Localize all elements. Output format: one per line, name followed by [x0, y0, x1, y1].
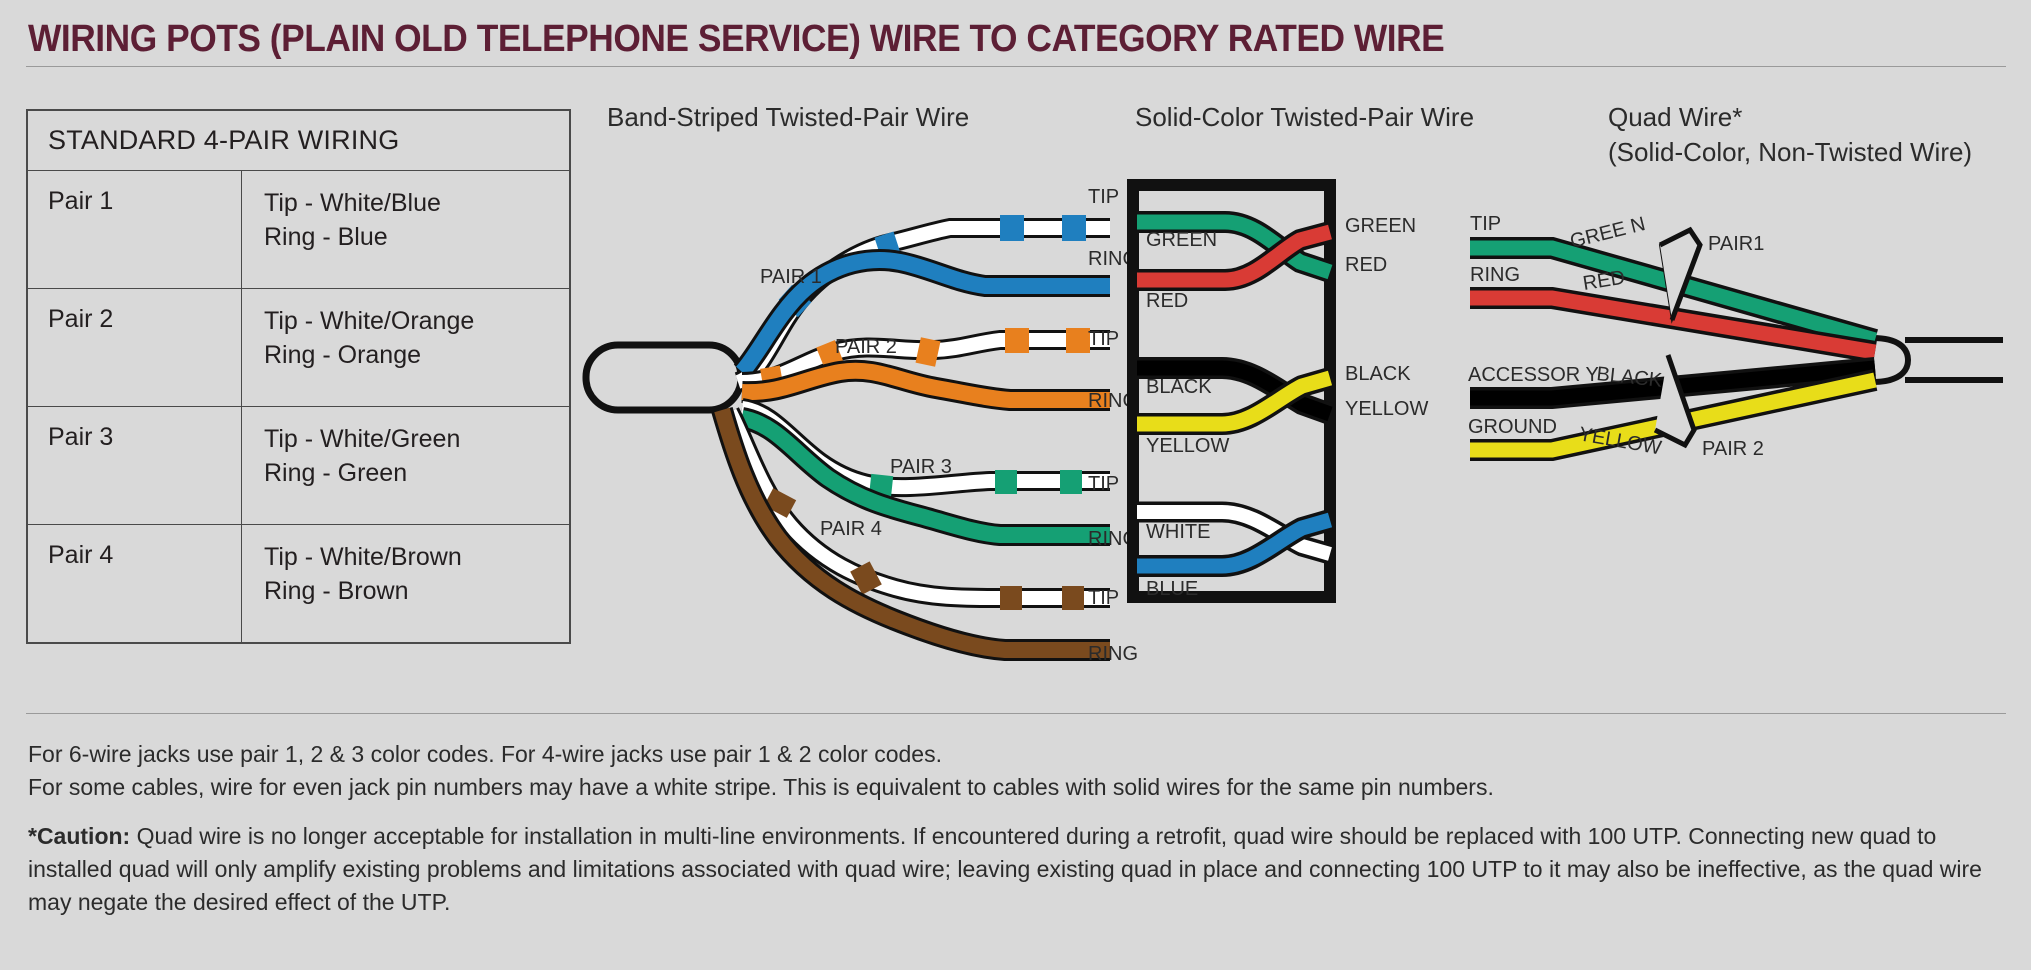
pair3-ring-outline [742, 418, 1110, 535]
ring-text: Ring - Orange [264, 339, 569, 373]
band-end-label-tip-2: TIP [1088, 328, 1119, 350]
quad-color-label-black: BLACK [1595, 363, 1663, 392]
solid-blue-outline [1137, 520, 1330, 566]
solid-outside-label-green: GREEN [1345, 215, 1416, 237]
quad-color-label-yellow: YELLOW [1577, 423, 1663, 459]
band-end-label-tip-3: TIP [1088, 473, 1119, 495]
pair2-ring-outline [742, 371, 1110, 400]
table-header-row: STANDARD 4-PAIR WIRING [27, 110, 570, 171]
pair4-ring-bands [737, 469, 769, 498]
solid-inside-label-yellow: YELLOW [1146, 435, 1229, 457]
solid-black-wire [1137, 368, 1330, 414]
solid-outside-label-red: RED [1345, 254, 1387, 276]
caution-paragraph: *Caution: Quad wire is no longer accepta… [28, 820, 2003, 919]
band-end-label-ring-4: RING [1088, 643, 1138, 665]
table-row: Pair 4 Tip - White/Brown Ring - Brown [27, 525, 570, 644]
section-heading-band-striped: Band-Striped Twisted-Pair Wire [607, 100, 969, 135]
pair3-tip-bands [869, 470, 1082, 501]
solid-green-wire [1137, 222, 1330, 272]
quad-wire-diagram: TIP RING ACCESSOR Y GROUND GREE N RED BL… [1468, 213, 2003, 460]
solid-green-outline [1137, 222, 1330, 272]
solid-outside-label-yellow: YELLOW [1345, 398, 1428, 420]
footer-divider [26, 713, 2006, 714]
pair4-ring-wire [722, 410, 1110, 650]
solid-color-diagram: GREEN RED BLACK YELLOW WHITE BLUE GREEN … [1133, 185, 1428, 600]
table-row: Pair 2 Tip - White/Orange Ring - Orange [27, 289, 570, 407]
quad-red-wire [1470, 298, 1875, 352]
header-divider [26, 66, 2006, 67]
solid-inside-label-black: BLACK [1146, 376, 1212, 398]
quad-function-label-ring: RING [1470, 264, 1520, 286]
pair3-label: PAIR 3 [890, 456, 952, 478]
solid-white-wire [1137, 512, 1330, 554]
solid-inside-label-red: RED [1146, 290, 1188, 312]
solid-red-outline [1137, 232, 1330, 280]
pair1-callout-arrow [1660, 230, 1700, 320]
pair1-label: PAIR 1 [760, 266, 822, 288]
solid-blue-wire [1137, 520, 1330, 566]
solid-red-wire [1137, 232, 1330, 280]
pair-1-wires: PAIR 1 [738, 215, 1110, 382]
quad-color-label-red: RED [1581, 267, 1626, 295]
footer-notes: For 6-wire jacks use pair 1, 2 & 3 color… [28, 738, 2003, 803]
band-striped-diagram: PAIR 1 PAIR 2 [586, 186, 1138, 665]
pair-label: Pair 4 [27, 525, 242, 644]
quad-pair2-label: PAIR 2 [1702, 438, 1764, 460]
standard-4-pair-wiring-table: STANDARD 4-PAIR WIRING Pair 1 Tip - Whit… [26, 109, 571, 644]
ring-text: Ring - Blue [264, 221, 569, 255]
pair3-tip-wire [742, 408, 1110, 487]
pair-label: Pair 3 [27, 407, 242, 525]
pair-colors: Tip - White/Orange Ring - Orange [242, 289, 571, 407]
pair2-tip-outline [742, 340, 1110, 382]
section-heading-quad-wire: Quad Wire* (Solid-Color, Non-Twisted Wir… [1608, 100, 1972, 169]
quad-jacket-cap [1873, 338, 1908, 382]
pair-label: Pair 1 [27, 171, 242, 289]
pair3-tip-outline [742, 408, 1110, 487]
pair4-tip-bands [764, 488, 1084, 610]
quad-color-label-green: GREE N [1568, 213, 1648, 253]
solid-inside-label-white: WHITE [1146, 521, 1210, 543]
page-title: WIRING POTS (PLAIN OLD TELEPHONE SERVICE… [28, 18, 1444, 61]
pair-label: Pair 2 [27, 289, 242, 407]
quad-heading-line1: Quad Wire* [1608, 100, 1972, 135]
pair1-callout-shape [1660, 230, 1700, 320]
section-heading-solid-color: Solid-Color Twisted-Pair Wire [1135, 100, 1474, 135]
quad-black-outline [1470, 368, 1875, 398]
solid-white-outline [1137, 512, 1330, 554]
quad-yellow-outline [1470, 380, 1875, 450]
tip-text: Tip - White/Orange [264, 305, 569, 339]
solid-yellow-outline [1137, 378, 1330, 424]
tip-text: Tip - White/Brown [264, 541, 569, 575]
pair2-label: PAIR 2 [835, 336, 897, 358]
diagram-page: WIRING POTS (PLAIN OLD TELEPHONE SERVICE… [0, 0, 2031, 970]
solid-black-outline [1137, 368, 1330, 414]
tip-text: Tip - White/Green [264, 423, 569, 457]
table-header-cell: STANDARD 4-PAIR WIRING [27, 110, 570, 171]
pair1-ring-outline [742, 260, 1110, 372]
ring-text: Ring - Brown [264, 575, 569, 609]
pair-colors: Tip - White/Blue Ring - Blue [242, 171, 571, 289]
solid-color-box [1133, 185, 1330, 597]
pair1-ring-wire [742, 260, 1110, 372]
pair-2-wires: PAIR 2 [742, 328, 1110, 400]
pair4-label: PAIR 4 [820, 518, 882, 540]
note-line-2: For some cables, wire for even jack pin … [28, 771, 2003, 804]
quad-function-label-tip: TIP [1470, 213, 1501, 235]
quad-pair1-label: PAIR1 [1708, 233, 1764, 255]
pair4-ring-outline [722, 410, 1110, 650]
solid-inside-label-blue: BLUE [1146, 578, 1198, 600]
quad-red-outline [1470, 298, 1875, 352]
pair-4-wires: PAIR 4 [722, 410, 1110, 650]
pair2-callout-shape [1655, 355, 1694, 445]
note-line-1: For 6-wire jacks use pair 1, 2 & 3 color… [28, 738, 2003, 771]
solid-outside-label-black: BLACK [1345, 363, 1411, 385]
ring-text: Ring - Green [264, 457, 569, 491]
solid-yellow-wire [1137, 378, 1330, 424]
quad-yellow-wire [1470, 380, 1875, 450]
table-row: Pair 1 Tip - White/Blue Ring - Blue [27, 171, 570, 289]
band-end-label-tip-1: TIP [1088, 186, 1119, 208]
pair-3-wires: PAIR 3 [742, 408, 1110, 535]
pair3-ring-wire [742, 418, 1110, 535]
band-end-label-ring-2: RING [1088, 390, 1138, 412]
pair2-ring-wire [742, 371, 1110, 400]
pair1-tip-wire [738, 228, 1110, 382]
pair4-tip-outline [730, 412, 1110, 598]
quad-black-wire [1470, 368, 1875, 398]
table-row: Pair 3 Tip - White/Green Ring - Green [27, 407, 570, 525]
band-end-label-tip-4: TIP [1088, 587, 1119, 609]
pair1-tip-bands [779, 215, 1086, 317]
caution-text: Quad wire is no longer acceptable for in… [28, 823, 1982, 915]
band-end-label-ring-1: RING [1088, 248, 1138, 270]
pair-colors: Tip - White/Green Ring - Green [242, 407, 571, 525]
quad-heading-line2: (Solid-Color, Non-Twisted Wire) [1608, 135, 1972, 170]
band-end-label-ring-3: RING [1088, 528, 1138, 550]
quad-green-outline [1470, 248, 1875, 340]
quad-green-wire [1470, 248, 1875, 340]
pair4-tip-wire [730, 412, 1110, 598]
pair-colors: Tip - White/Brown Ring - Brown [242, 525, 571, 644]
caution-label: *Caution: [28, 823, 130, 849]
quad-function-label-ground: GROUND [1468, 416, 1557, 438]
solid-inside-label-green: GREEN [1146, 229, 1217, 251]
pair2-tip-wire [742, 340, 1110, 382]
cable-jacket [586, 345, 741, 410]
pair1-tip-outline [738, 228, 1110, 382]
tip-text: Tip - White/Blue [264, 187, 569, 221]
pair2-tip-bands [760, 328, 1090, 393]
quad-function-label-accessory: ACCESSOR Y [1468, 364, 1599, 386]
